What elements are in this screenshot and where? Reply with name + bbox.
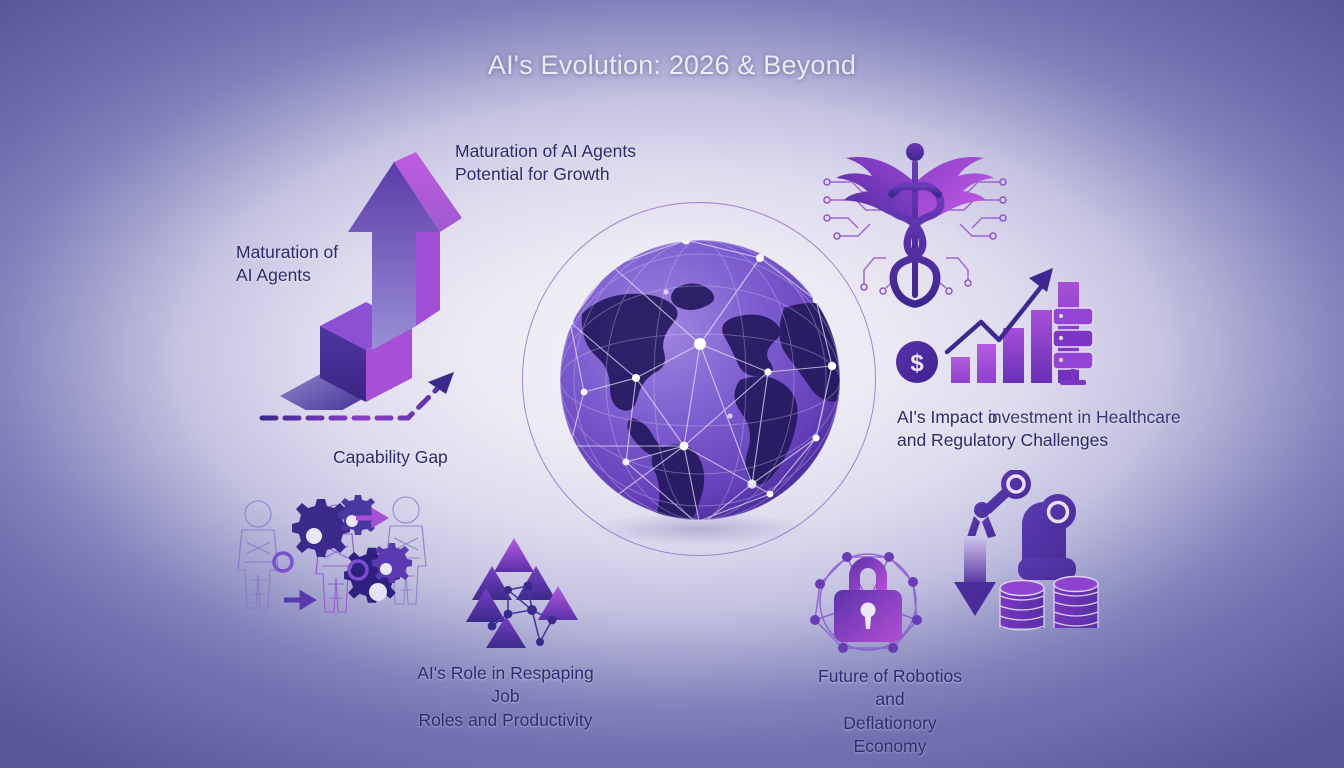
deflation-arrow-icon (954, 536, 996, 616)
coin-stack-left (1000, 581, 1044, 631)
robot-arm-coins-icon (952, 470, 1112, 640)
label-growth: Maturation of AI Agents Potential for Gr… (455, 140, 636, 187)
label-healthcare-overlap: investment in Healthcare (988, 406, 1181, 429)
triangle-network-icon (462, 528, 602, 648)
label-robotics: Future of Robotios and Deflationory Econ… (805, 665, 975, 758)
page-title: AI's Evolution: 2026 & Beyond (0, 50, 1344, 81)
person-wireframe-1 (238, 501, 278, 608)
coin-stack-right (1054, 577, 1098, 629)
padlock-body (834, 557, 902, 642)
workforce-gears-icon (228, 482, 448, 642)
dashed-trend-arrow-icon (258, 368, 468, 438)
svg-text:$: $ (910, 350, 924, 377)
investment-bar-chart-icon: $ (895, 252, 1095, 392)
label-capability-gap: Capability Gap (333, 446, 448, 469)
label-jobs: AI's Role in Respaping Job Roles and Pro… (403, 662, 608, 732)
gear-small-mid (372, 543, 412, 583)
triangle-group (466, 538, 578, 648)
caduceus-knob (906, 143, 924, 161)
dollar-coin-icon: $ (896, 341, 938, 383)
infographic-canvas: AI's Evolution: 2026 & Beyond (0, 0, 1344, 768)
label-maturation: Maturation of AI Agents (236, 241, 338, 288)
network-padlock-icon (793, 542, 943, 662)
